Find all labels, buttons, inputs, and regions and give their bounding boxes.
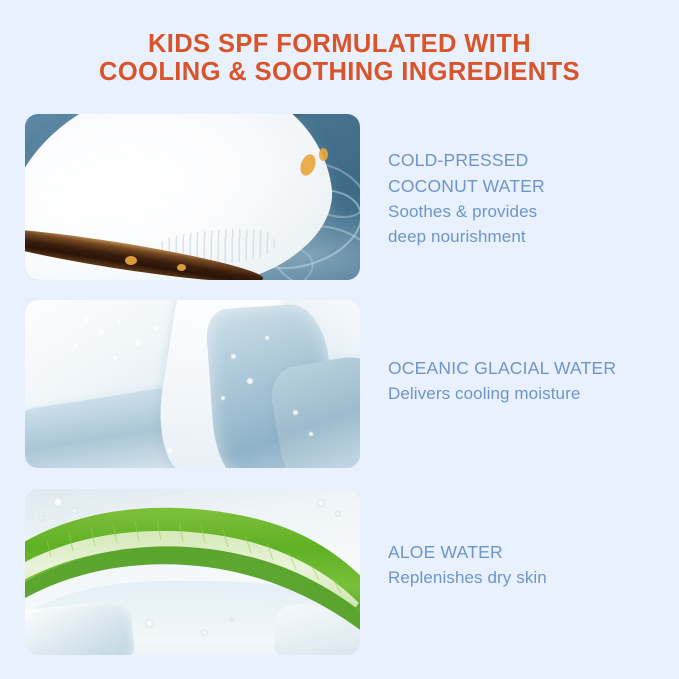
ingredient-row-coconut: COLD-PRESSED COCONUT WATER Soothes & pro… [0, 114, 679, 280]
coconut-fiber-bit [177, 264, 186, 271]
ice-bubble [113, 356, 117, 360]
infographic-page: KIDS SPF FORMULATED WITH COOLING & SOOTH… [0, 0, 679, 679]
ice-bubble [221, 396, 225, 400]
ice-bubble [309, 432, 313, 436]
ingredient-description: Replenishes dry skin [388, 565, 668, 590]
water-bubble [39, 515, 45, 521]
ice-bubble [265, 336, 269, 340]
headline-line-2: COOLING & SOOTHING INGREDIENTS [0, 58, 679, 86]
aloe-leaf-slice [25, 497, 360, 639]
ingredient-title-line-1: ALOE WATER [388, 542, 503, 562]
glacial-ice-photo [25, 300, 360, 468]
ingredient-title: ALOE WATER [388, 539, 668, 565]
ingredient-desc-line-1: Replenishes dry skin [388, 568, 547, 587]
water-bubble [335, 511, 341, 517]
water-bubble [229, 617, 234, 622]
ice-bubble [117, 320, 121, 324]
coconut-fiber-bit [319, 148, 328, 161]
ice-bubble [231, 354, 236, 359]
ice-bubble [167, 448, 172, 453]
coconut-thumbnail [25, 114, 360, 280]
ingredient-title-line-1: OCEANIC GLACIAL WATER [388, 358, 616, 378]
aloe-photo [25, 489, 360, 655]
glacial-ice-thumbnail [25, 300, 360, 468]
ice-bubble [155, 326, 159, 330]
water-bubble [317, 499, 325, 507]
ingredient-title: COLD-PRESSED COCONUT WATER [388, 147, 668, 199]
ice-bubble [99, 330, 104, 335]
ingredient-copy-aloe: ALOE WATER Replenishes dry skin [388, 539, 668, 590]
aloe-thumbnail [25, 489, 360, 655]
water-bubble [53, 497, 63, 507]
ingredient-desc-line-2: deep nourishment [388, 224, 668, 249]
water-bubble [145, 619, 154, 628]
water-bubble [201, 629, 208, 636]
ice-bubble [135, 340, 141, 346]
ingredient-description: Soothes & provides deep nourishment [388, 199, 668, 249]
ingredient-copy-glacial-water: OCEANIC GLACIAL WATER Delivers cooling m… [388, 355, 668, 406]
ingredient-desc-line-1: Delivers cooling moisture [388, 384, 580, 403]
ingredient-row-aloe: ALOE WATER Replenishes dry skin [0, 489, 679, 655]
coconut-photo [25, 114, 360, 280]
ingredient-title-line-1: COLD-PRESSED [388, 150, 529, 170]
water-bubble [71, 507, 78, 514]
ingredient-row-glacial-water: OCEANIC GLACIAL WATER Delivers cooling m… [0, 300, 679, 468]
ice-bubble [293, 410, 298, 415]
headline-line-1: KIDS SPF FORMULATED WITH [0, 30, 679, 58]
ingredient-description: Delivers cooling moisture [388, 381, 668, 406]
aloe-leaf-shape [25, 497, 360, 639]
ice-bubble [247, 378, 253, 384]
ingredient-copy-coconut: COLD-PRESSED COCONUT WATER Soothes & pro… [388, 147, 668, 249]
coconut-fiber-bit [125, 256, 137, 265]
page-title: KIDS SPF FORMULATED WITH COOLING & SOOTH… [0, 30, 679, 86]
ingredient-desc-line-1: Soothes & provides [388, 202, 537, 221]
ingredient-title-line-2: COCONUT WATER [388, 173, 668, 199]
ingredient-title: OCEANIC GLACIAL WATER [388, 355, 668, 381]
ice-bubble [73, 344, 78, 349]
ice-bubble [83, 316, 89, 322]
